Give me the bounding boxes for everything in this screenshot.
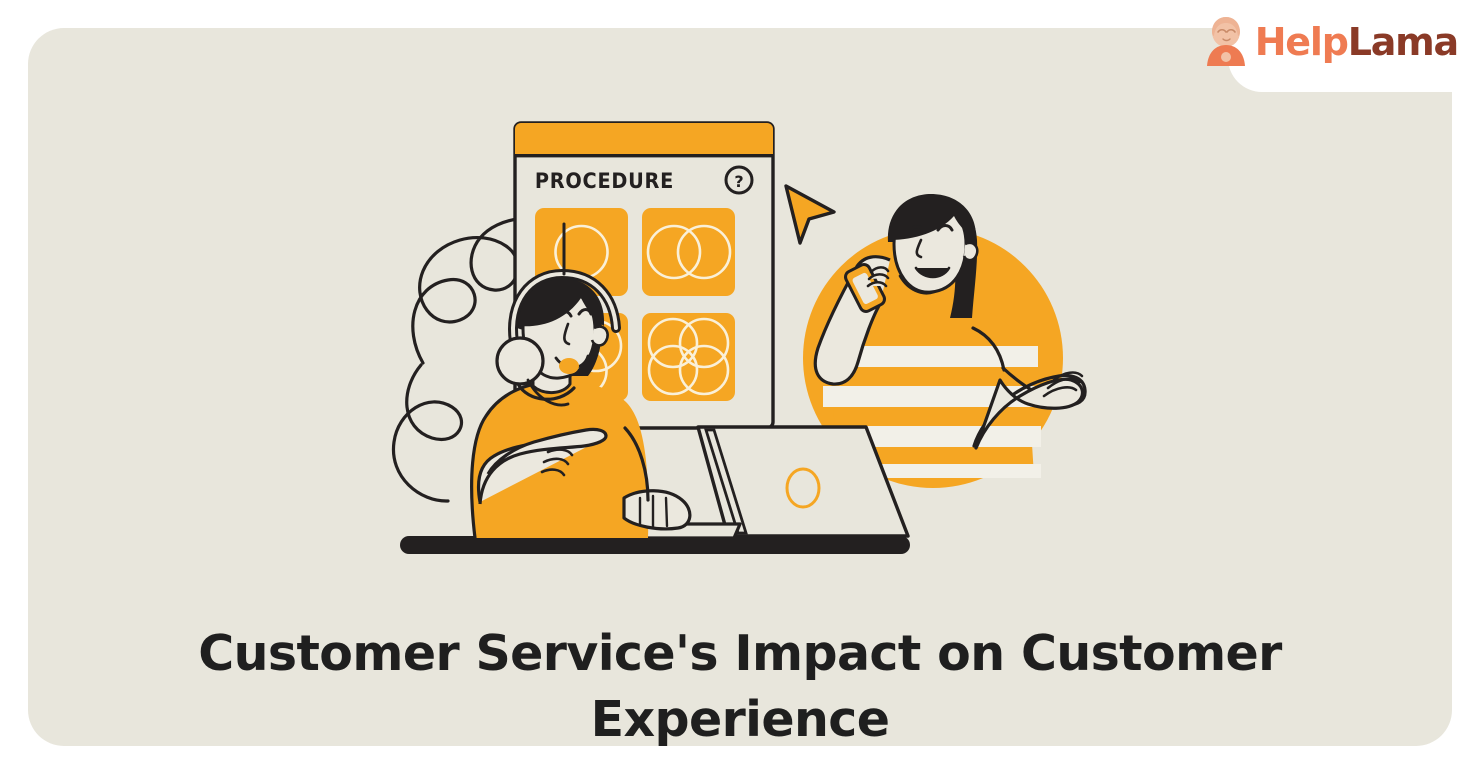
graphic-canvas: PROCEDURE ? bbox=[0, 0, 1480, 774]
helplama-monk-mascot-icon bbox=[1203, 16, 1249, 68]
brand-wordmark: HelpLama bbox=[1255, 23, 1458, 61]
brand-word-help: Help bbox=[1255, 20, 1348, 64]
tile-four-circles bbox=[642, 313, 735, 401]
hero-illustration: PROCEDURE ? bbox=[28, 28, 1452, 588]
tile-two-circles bbox=[642, 208, 735, 296]
procedure-label: PROCEDURE bbox=[535, 168, 674, 193]
cursor-arrow bbox=[786, 186, 834, 243]
brand-logo-plate[interactable]: HelpLama bbox=[1228, 0, 1480, 92]
svg-text:?: ? bbox=[734, 172, 743, 191]
page-title: Customer Service's Impact on Customer Ex… bbox=[170, 621, 1310, 753]
brand-word-lama: Lama bbox=[1348, 20, 1458, 64]
